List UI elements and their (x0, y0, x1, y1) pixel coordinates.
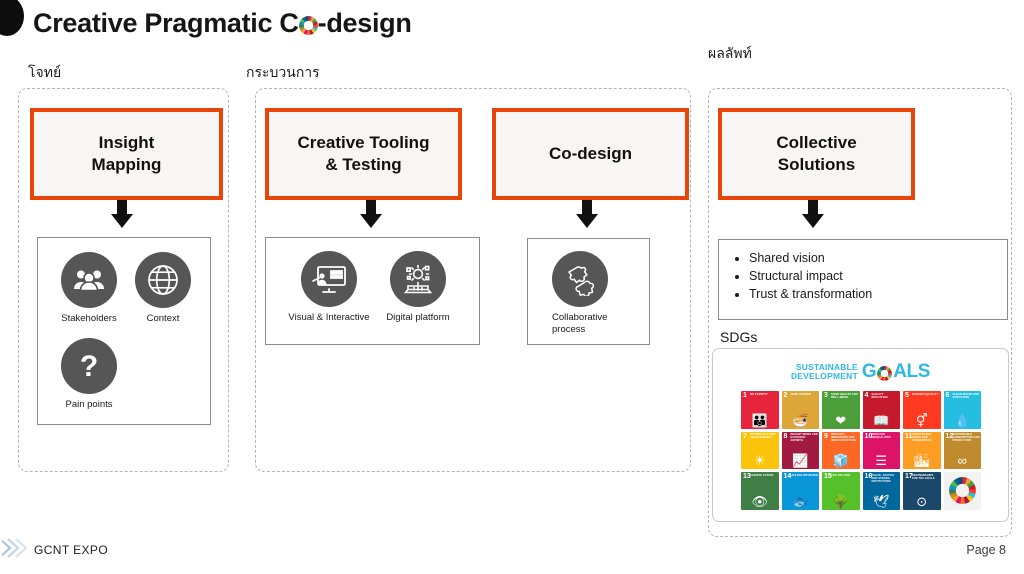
sdg-wheel-icon (949, 477, 976, 504)
sdg-tile-9: 9INDUSTRY, INNOVATION AND INFRASTRUCTURE… (822, 432, 860, 470)
creative-tooling-box[interactable]: Creative Tooling & Testing (265, 108, 462, 200)
icon-item-collaborative-process[interactable]: Collaborative process (552, 251, 632, 336)
sdg-tile-glyph: 🧊 (822, 454, 860, 467)
sdg-tile-16: 16PEACE, JUSTICE AND STRONG INSTITUTIONS… (863, 472, 901, 510)
sdgs-section-label: SDGs (720, 329, 757, 345)
sdg-tile-number: 6 (946, 392, 950, 399)
icon-item-stakeholders[interactable]: Stakeholders (52, 252, 126, 325)
sdg-tile-glyph: 👪 (741, 414, 779, 427)
page-number: Page 8 (966, 543, 1006, 557)
sdg-panel-heading: SUSTAINABLE DEVELOPMENT GALS (713, 361, 1008, 383)
sdg-tile-number: 4 (865, 392, 869, 399)
sdg-tile-number: 5 (905, 392, 909, 399)
sdg-tile-name: INDUSTRY, INNOVATION AND INFRASTRUCTURE (831, 433, 859, 442)
sdg-tile-name: RESPONSIBLE CONSUMPTION AND PRODUCTION (953, 433, 981, 442)
list-item: Structural impact (749, 267, 1015, 285)
collaborative-process-puzzle-icon (552, 251, 608, 307)
sdg-tile-number: 1 (743, 392, 747, 399)
icon-item-context[interactable]: Context (126, 252, 200, 325)
context-globe-icon (135, 252, 191, 308)
problem-icons-box: Stakeholders Context ? Pain points (37, 237, 211, 425)
sdg-goals-after: ALS (893, 361, 930, 383)
svg-text:?: ? (80, 350, 98, 383)
sdg-heading-line2: DEVELOPMENT (791, 372, 858, 381)
outcome-bullets-box: Shared vision Structural impact Trust & … (718, 239, 1008, 320)
sdg-tile-name: ZERO HUNGER (791, 393, 819, 396)
sdg-tile-glyph: 🏙 (903, 454, 941, 467)
sdg-tile-4: 4QUALITY EDUCATION📖 (863, 391, 901, 429)
sdg-tile-14: 14LIFE BELOW WATER🐟 (782, 472, 820, 510)
sdg-panel: SUSTAINABLE DEVELOPMENT GALS 1NO POVERTY… (712, 348, 1009, 522)
sdg-tile-name: GOOD HEALTH AND WELL-BEING (831, 393, 859, 399)
icon-label-pain-points: Pain points (52, 399, 126, 411)
sdg-tile-17: 17PARTNERSHIPS FOR THE GOALS⊙ (903, 472, 941, 510)
codesign-icons-box: Collaborative process (527, 238, 650, 345)
sdg-tile-glyph: 👁 (741, 495, 779, 508)
sdg-wheel-icon (299, 16, 318, 35)
sdg-tile-name: AFFORDABLE AND CLEAN ENERGY (750, 433, 778, 439)
sdg-tile-number: 8 (784, 433, 788, 440)
insight-mapping-label: Insight Mapping (92, 132, 162, 177)
gcnt-chevron-logo-icon (2, 533, 34, 563)
column-label-outcome: ผลลัพท์ (708, 43, 752, 65)
page-title: Creative Pragmatic C-design (33, 8, 412, 39)
icon-item-visual-interactive[interactable]: Visual & Interactive (285, 251, 373, 324)
down-arrow-icon-codesign (576, 200, 598, 228)
sdg-tile-number: 3 (824, 392, 828, 399)
sdg-wheel-icon (877, 366, 892, 381)
sdg-tile-name: CLEAN WATER AND SANITATION (953, 393, 981, 399)
sdg-tile-5: 5GENDER EQUALITY⚥ (903, 391, 941, 429)
insight-mapping-box[interactable]: Insight Mapping (30, 108, 223, 200)
sdg-tile-glyph: 📖 (863, 414, 901, 427)
collective-solutions-label: Collective Solutions (776, 132, 856, 177)
sdg-tile-glyph: ❤ (822, 414, 860, 427)
sdg-tile-grid: 1NO POVERTY👪2ZERO HUNGER🍜3GOOD HEALTH AN… (741, 391, 981, 510)
sdg-tile-12: 12RESPONSIBLE CONSUMPTION AND PRODUCTION… (944, 432, 982, 470)
collective-solutions-box[interactable]: Collective Solutions (718, 108, 915, 200)
list-item: Shared vision (749, 249, 1015, 267)
sdg-tile-glyph: ⚥ (903, 414, 941, 427)
sdg-tile-11: 11SUSTAINABLE CITIES AND COMMUNITIES🏙 (903, 432, 941, 470)
digital-platform-gear-icon (390, 251, 446, 307)
list-item: Trust & transformation (749, 285, 1015, 303)
icon-label-digital-platform: Digital platform (374, 312, 462, 324)
down-arrow-icon-tooling (360, 200, 382, 228)
sdg-tile-name: QUALITY EDUCATION (872, 393, 900, 399)
sdg-tile-15: 15LIFE ON LAND🌳 (822, 472, 860, 510)
sdg-tile-glyph: ☰ (863, 454, 901, 467)
sdg-tile-7: 7AFFORDABLE AND CLEAN ENERGY☀ (741, 432, 779, 470)
sdg-tile-number: 7 (743, 433, 747, 440)
sdg-tile-2: 2ZERO HUNGER🍜 (782, 391, 820, 429)
sdg-tile-glyph: 🍜 (782, 414, 820, 427)
sdg-tile-name: GENDER EQUALITY (912, 393, 940, 396)
sdg-tile-name: DECENT WORK AND ECONOMIC GROWTH (791, 433, 819, 442)
column-label-process: กระบวนการ (246, 62, 320, 84)
sdg-tile-glyph: 💧 (944, 414, 982, 427)
icon-label-visual-interactive: Visual & Interactive (285, 312, 373, 324)
sdg-tile-name: NO POVERTY (750, 393, 778, 396)
title-bullet-dot-icon (0, 0, 24, 36)
sdg-tile-glyph: ⊙ (903, 495, 941, 508)
down-arrow-icon-outcome (802, 200, 824, 228)
sdg-tile-glyph: ∞ (944, 454, 982, 467)
icon-label-stakeholders: Stakeholders (52, 313, 126, 325)
icon-item-pain-points[interactable]: ? Pain points (52, 338, 126, 411)
icon-label-collaborative-process: Collaborative process (552, 312, 632, 336)
down-arrow-icon-problem (111, 200, 133, 228)
sdg-tile-name: CLIMATE ACTION (750, 474, 778, 477)
sdg-tile-10: 10REDUCED INEQUALITIES☰ (863, 432, 901, 470)
sdg-tile-glyph: 📈 (782, 454, 820, 467)
column-label-problem: โจทย์ (28, 62, 61, 84)
sdg-tile-name: REDUCED INEQUALITIES (872, 433, 900, 439)
outcome-bullet-list: Shared vision Structural impact Trust & … (727, 249, 1015, 303)
sdg-tile-name: LIFE ON LAND (831, 474, 859, 477)
sdg-tile-glyph: 🐟 (782, 495, 820, 508)
sdg-tile-name: PARTNERSHIPS FOR THE GOALS (912, 474, 940, 480)
visual-interactive-monitor-icon (301, 251, 357, 307)
sdg-tile-13: 13CLIMATE ACTION👁 (741, 472, 779, 510)
pain-points-question-icon: ? (61, 338, 117, 394)
icon-item-digital-platform[interactable]: Digital platform (374, 251, 462, 324)
sdg-tile-1: 1NO POVERTY👪 (741, 391, 779, 429)
footer-brand: GCNT EXPO (34, 543, 108, 557)
sdg-tile-name: PEACE, JUSTICE AND STRONG INSTITUTIONS (872, 474, 900, 483)
sdg-tile-glyph: 🕊 (863, 495, 901, 508)
sdg-tile-number: 9 (824, 433, 828, 440)
sdg-heading-text: SUSTAINABLE DEVELOPMENT (791, 363, 858, 381)
page-title-after: -design (318, 8, 412, 39)
icon-label-context: Context (126, 313, 200, 325)
sdg-tile-glyph: 🌳 (822, 495, 860, 508)
sdg-tile-glyph: ☀ (741, 454, 779, 467)
sdg-goals-before: G (862, 361, 876, 383)
co-design-box[interactable]: Co-design (492, 108, 689, 200)
tooling-icons-box: Visual & Interactive Digital platform (265, 237, 480, 345)
sdg-tile-6: 6CLEAN WATER AND SANITATION💧 (944, 391, 982, 429)
stakeholders-people-icon (61, 252, 117, 308)
page-title-before: Creative Pragmatic C (33, 8, 299, 39)
sdg-tile-3: 3GOOD HEALTH AND WELL-BEING❤ (822, 391, 860, 429)
sdg-tile-name: SUSTAINABLE CITIES AND COMMUNITIES (912, 433, 940, 442)
sdg-goals-word: GALS (862, 361, 930, 383)
sdg-tile-8: 8DECENT WORK AND ECONOMIC GROWTH📈 (782, 432, 820, 470)
sdg-wheel-tile (944, 472, 982, 510)
creative-tooling-label: Creative Tooling & Testing (298, 132, 430, 177)
co-design-label: Co-design (549, 143, 632, 165)
sdg-tile-number: 2 (784, 392, 788, 399)
slide-canvas: Creative Pragmatic C-design โจทย์ กระบวน… (0, 0, 1024, 574)
sdg-tile-name: LIFE BELOW WATER (791, 474, 819, 477)
